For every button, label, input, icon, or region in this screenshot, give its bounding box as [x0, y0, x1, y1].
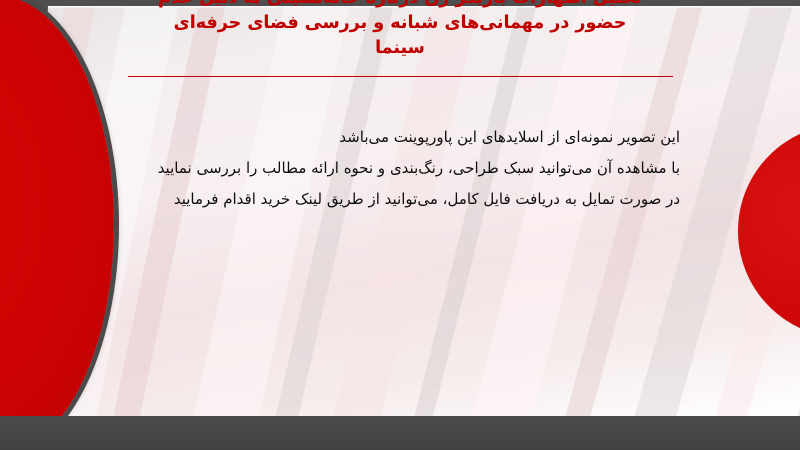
- body-line-2: با مشاهده آن می‌توانید سبک طراحی، رنگ‌بن…: [130, 153, 680, 184]
- presentation-slide: تحلیل اظهارات بازیگر زن درباره خانه‌نشین…: [0, 0, 800, 450]
- body-line-1: این تصویر نمونه‌ای از اسلایدهای این پاور…: [130, 122, 680, 153]
- slide-title: تحلیل اظهارات بازیگر زن درباره خانه‌نشین…: [40, 0, 760, 61]
- title-underline-rule: [128, 76, 673, 77]
- body-line-3: در صورت تمایل به دریافت فایل کامل، می‌تو…: [130, 184, 680, 215]
- bottom-dark-band: [0, 416, 800, 450]
- slide-body-text: این تصویر نمونه‌ای از اسلایدهای این پاور…: [130, 122, 680, 215]
